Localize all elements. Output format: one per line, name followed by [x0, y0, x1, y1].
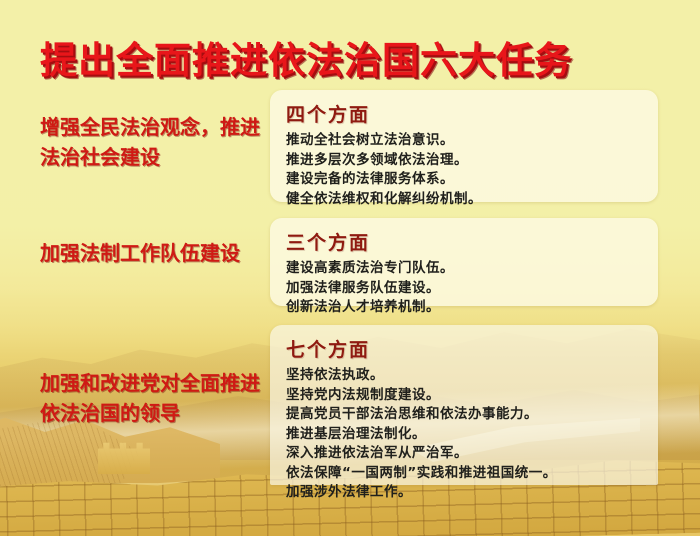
section-label-1: 增强全民法治观念，推进法治社会建设 [40, 112, 265, 172]
section-label-2: 加强法制工作队伍建设 [40, 238, 265, 268]
card-heading-1: 四个方面 [286, 100, 644, 127]
detail-card-3: 七个方面 坚持依法执政。坚持党内法规制度建设。提高党员干部法治思维和依法办事能力… [270, 325, 658, 485]
card-line-item: 健全依法维权和化解纠纷机制。 [286, 190, 644, 210]
card-line-item: 创新法治人才培养机制。 [286, 298, 644, 318]
card-line-list-3: 坚持依法执政。坚持党内法规制度建设。提高党员干部法治思维和依法办事能力。推进基层… [286, 366, 644, 503]
card-line-item: 深入推进依法治军从严治军。 [286, 444, 644, 464]
card-line-item: 推进多层次多领域依法治理。 [286, 151, 644, 171]
section-label-3: 加强和改进党对全面推进依法治国的领导 [40, 368, 265, 428]
poster-canvas: 提出全面推进依法治国六大任务 增强全民法治观念，推进法治社会建设 加强法制工作队… [0, 0, 700, 536]
page-title: 提出全面推进依法治国六大任务 [40, 30, 572, 84]
card-line-item: 推进基层治理法制化。 [286, 425, 644, 445]
card-line-item: 坚持依法执政。 [286, 366, 644, 386]
card-line-item: 坚持党内法规制度建设。 [286, 386, 644, 406]
card-line-item: 加强涉外法律工作。 [286, 483, 644, 503]
card-line-list-2: 建设高素质法治专门队伍。加强法律服务队伍建设。创新法治人才培养机制。 [286, 259, 644, 318]
card-line-item: 建设完备的法律服务体系。 [286, 170, 644, 190]
card-line-item: 提高党员干部法治思维和依法办事能力。 [286, 405, 644, 425]
card-line-item: 建设高素质法治专门队伍。 [286, 259, 644, 279]
detail-card-1: 四个方面 推动全社会树立法治意识。推进多层次多领域依法治理。建设完备的法律服务体… [270, 90, 658, 202]
card-line-item: 依法保障“一国两制”实践和推进祖国统一。 [286, 464, 644, 484]
card-line-list-1: 推动全社会树立法治意识。推进多层次多领域依法治理。建设完备的法律服务体系。健全依… [286, 131, 644, 209]
card-heading-3: 七个方面 [286, 335, 644, 362]
card-line-item: 推动全社会树立法治意识。 [286, 131, 644, 151]
card-heading-2: 三个方面 [286, 228, 644, 255]
wall-watchtower-icon [98, 440, 150, 474]
detail-card-2: 三个方面 建设高素质法治专门队伍。加强法律服务队伍建设。创新法治人才培养机制。 [270, 218, 658, 306]
card-line-item: 加强法律服务队伍建设。 [286, 279, 644, 299]
